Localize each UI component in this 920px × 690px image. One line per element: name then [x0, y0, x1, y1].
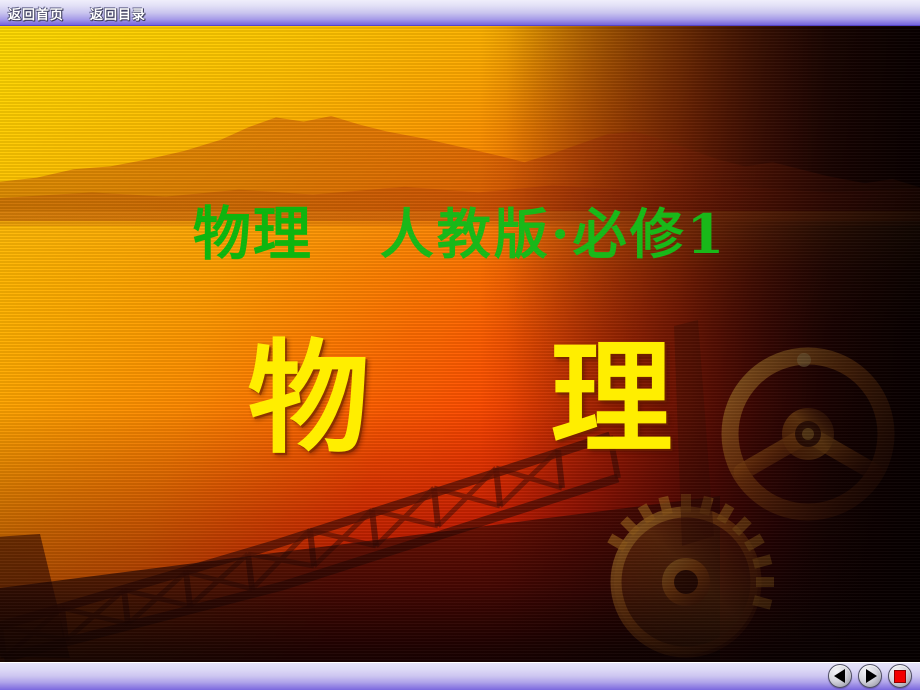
page-title-char-right: 理	[550, 332, 672, 464]
headline-course-label: 物理	[193, 203, 313, 265]
triangle-right-icon	[866, 669, 877, 683]
next-button[interactable]	[858, 664, 882, 688]
top-nav-links: 返回首页 返回目录	[8, 0, 146, 26]
bottom-control-bar	[0, 662, 920, 690]
page-title: 物 理	[0, 332, 920, 464]
previous-button[interactable]	[828, 664, 852, 688]
return-home-link[interactable]: 返回首页	[8, 4, 64, 23]
square-stop-icon	[894, 670, 906, 683]
triangle-left-icon	[834, 669, 845, 683]
page-title-char-left: 物	[248, 332, 370, 464]
top-navigation-bar: 返回首页 返回目录	[0, 0, 920, 26]
mountain-ridge-near	[0, 81, 920, 221]
presentation-slide: 返回首页 返回目录	[0, 0, 920, 690]
headline-edition-label: 人教版·必修1	[380, 203, 727, 265]
playback-controls	[828, 664, 912, 688]
stop-button[interactable]	[888, 664, 912, 688]
bridge-deck-shadow	[0, 496, 720, 662]
slide-headline: 物理 人教版·必修1	[0, 203, 920, 265]
return-contents-link[interactable]: 返回目录	[90, 4, 146, 23]
